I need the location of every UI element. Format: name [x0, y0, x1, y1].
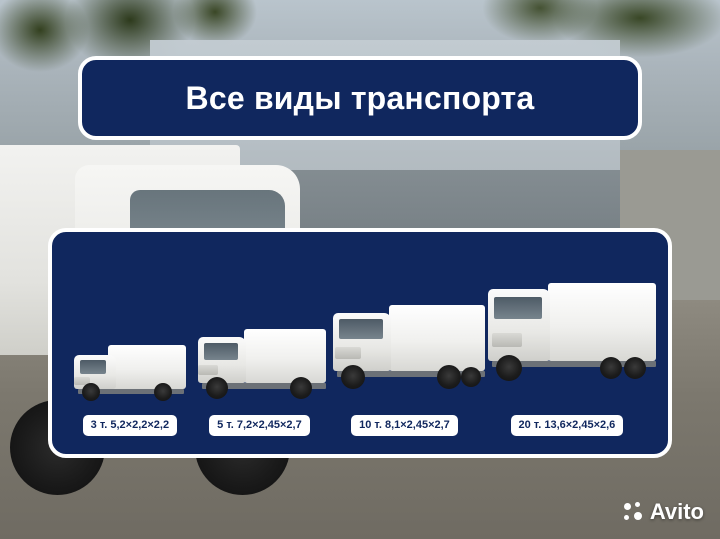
vehicle-item-medium-box-truck: 5 т. 7,2×2,45×2,7	[192, 311, 327, 436]
title-card: Все виды транспорта	[78, 56, 642, 140]
vehicle-spec-label: 3 т. 5,2×2,2×2,2	[83, 415, 177, 436]
vehicles-row: 3 т. 5,2×2,2×2,2 5 т. 7,2×2,45×2,7	[52, 232, 668, 454]
wheel	[290, 377, 312, 399]
large-box-truck-icon	[327, 295, 482, 407]
windshield	[80, 360, 106, 374]
wheel	[206, 377, 228, 399]
windshield	[339, 319, 383, 339]
vehicle-item-gazelle-box-truck: 3 т. 5,2×2,2×2,2	[68, 327, 192, 436]
windshield	[204, 343, 238, 360]
vehicle-spec-label: 5 т. 7,2×2,45×2,7	[209, 415, 310, 436]
cargo-box	[244, 329, 326, 383]
wheel	[600, 357, 622, 379]
vehicle-spec-label: 10 т. 8,1×2,45×2,7	[351, 415, 458, 436]
cargo-box	[389, 305, 485, 371]
wheel	[154, 383, 172, 401]
trailer-box	[548, 283, 656, 361]
vehicle-item-large-box-truck: 10 т. 8,1×2,45×2,7	[327, 295, 482, 436]
semi-trailer-truck-icon	[482, 279, 652, 407]
wheel	[624, 357, 646, 379]
vehicle-item-semi-trailer-truck: 20 т. 13,6×2,45×2,6	[482, 279, 652, 436]
cargo-box	[108, 345, 186, 389]
avito-logo-icon	[624, 502, 644, 522]
windshield	[494, 297, 542, 319]
banner-image: Все виды транспорта 3 т. 5,2×2,2×2,2	[0, 0, 720, 539]
avito-watermark-label: Avito	[650, 499, 704, 525]
medium-box-truck-icon	[192, 311, 327, 407]
vehicle-spec-label: 20 т. 13,6×2,45×2,6	[511, 415, 624, 436]
front-grill	[492, 333, 522, 347]
front-grill	[335, 347, 361, 359]
wheel	[461, 367, 481, 387]
front-grill	[198, 365, 218, 375]
wheel	[496, 355, 522, 381]
banner-title: Все виды транспорта	[186, 80, 535, 117]
wheel	[341, 365, 365, 389]
vehicles-panel: 3 т. 5,2×2,2×2,2 5 т. 7,2×2,45×2,7	[48, 228, 672, 458]
avito-watermark: Avito	[624, 499, 704, 525]
wheel	[82, 383, 100, 401]
gazelle-box-truck-icon	[68, 327, 192, 407]
wheel	[437, 365, 461, 389]
